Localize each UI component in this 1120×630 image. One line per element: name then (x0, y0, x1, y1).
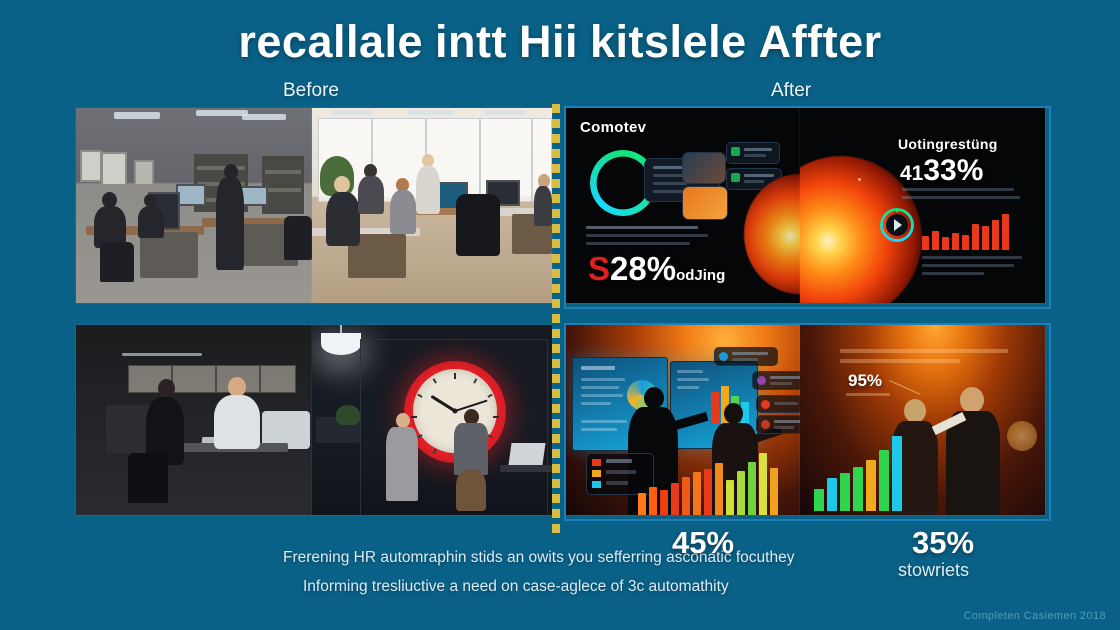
red-clock-image (312, 325, 552, 515)
slide-root: recallaleinttHiikitsleleAffter Before Af… (0, 0, 1120, 630)
footer-stat-1: 45% (672, 525, 734, 561)
presenter-female-head (724, 403, 743, 424)
callout-chip-2 (752, 371, 800, 390)
vertical-dashed-divider (552, 104, 560, 536)
legend-chip-1 (726, 142, 780, 164)
callout-chip-1 (714, 347, 778, 366)
celebrating-person-right-body (946, 411, 1000, 515)
footer-stat-2-label: stowriets (898, 560, 969, 581)
red-bar-chart (922, 208, 1014, 250)
celebrating-person-right-head (960, 387, 984, 413)
thumbnail-card-1 (682, 152, 726, 184)
page-title: recallaleinttHiikitsleleAffter (0, 16, 1120, 68)
celebration-image: 95% (800, 325, 1045, 515)
fire-glow-edge (744, 174, 800, 294)
thumbnail-card-2 (682, 186, 728, 220)
before-bottom-right-panel[interactable] (312, 325, 552, 515)
after-top-right-stat: 4133% (900, 154, 983, 188)
footer-caption-line-2: Informing tresliuctive a need on case-ag… (303, 578, 729, 596)
fire-dashboard-image: Uotingrestüng 4133% (800, 108, 1045, 303)
before-bottom-left-panel[interactable] (76, 325, 312, 515)
analytics-dashboard-image: Comotev (566, 108, 800, 303)
rising-bar-chart (814, 431, 910, 511)
after-top-right-panel[interactable]: Uotingrestüng 4133% (800, 108, 1045, 303)
after-top-right-heading: Uotingrestüng (898, 136, 998, 152)
colorful-bar-chart (638, 443, 798, 515)
gray-office-image (76, 108, 312, 303)
title-word-4: kitslele (590, 16, 747, 67)
celebrating-person-left-head (904, 399, 926, 423)
stat-suffix: odJing (676, 267, 725, 284)
title-word-2: intt (435, 16, 507, 67)
title-word-3: Hii (519, 16, 578, 67)
watermark: Completen Casiemen 2018 (964, 610, 1107, 622)
before-label: Before (283, 80, 339, 102)
before-top-left-panel[interactable] (76, 108, 312, 303)
play-arrow-icon (894, 219, 902, 231)
title-word-5: Affter (759, 16, 882, 67)
before-top-right-panel[interactable] (312, 108, 552, 303)
stat-prefix: S (588, 250, 610, 287)
callout-chip-4 (756, 415, 800, 434)
column-labels: Before After (0, 80, 1120, 108)
after-top-left-stat: S28%odJing (588, 250, 725, 288)
stat-value: 33% (923, 154, 983, 187)
title-word-1: recallale (238, 16, 423, 67)
stat-small: 41 (900, 162, 923, 185)
night-office-image (76, 325, 312, 515)
presentation-image (566, 325, 800, 515)
after-bottom-right-stat: 95% (848, 371, 882, 391)
after-label: After (771, 80, 811, 102)
presenter-male-head (644, 387, 664, 409)
after-top-left-heading: Comotev (580, 119, 646, 136)
after-bottom-right-panel[interactable]: 95% (800, 325, 1045, 515)
after-top-left-panel[interactable]: Comotev (566, 108, 800, 303)
after-bottom-left-panel[interactable] (566, 325, 800, 515)
stat-value: 28% (610, 250, 676, 287)
open-plan-office-image (312, 108, 552, 303)
callout-chip-3 (756, 395, 800, 413)
footer-stat-2: 35% (912, 525, 974, 561)
